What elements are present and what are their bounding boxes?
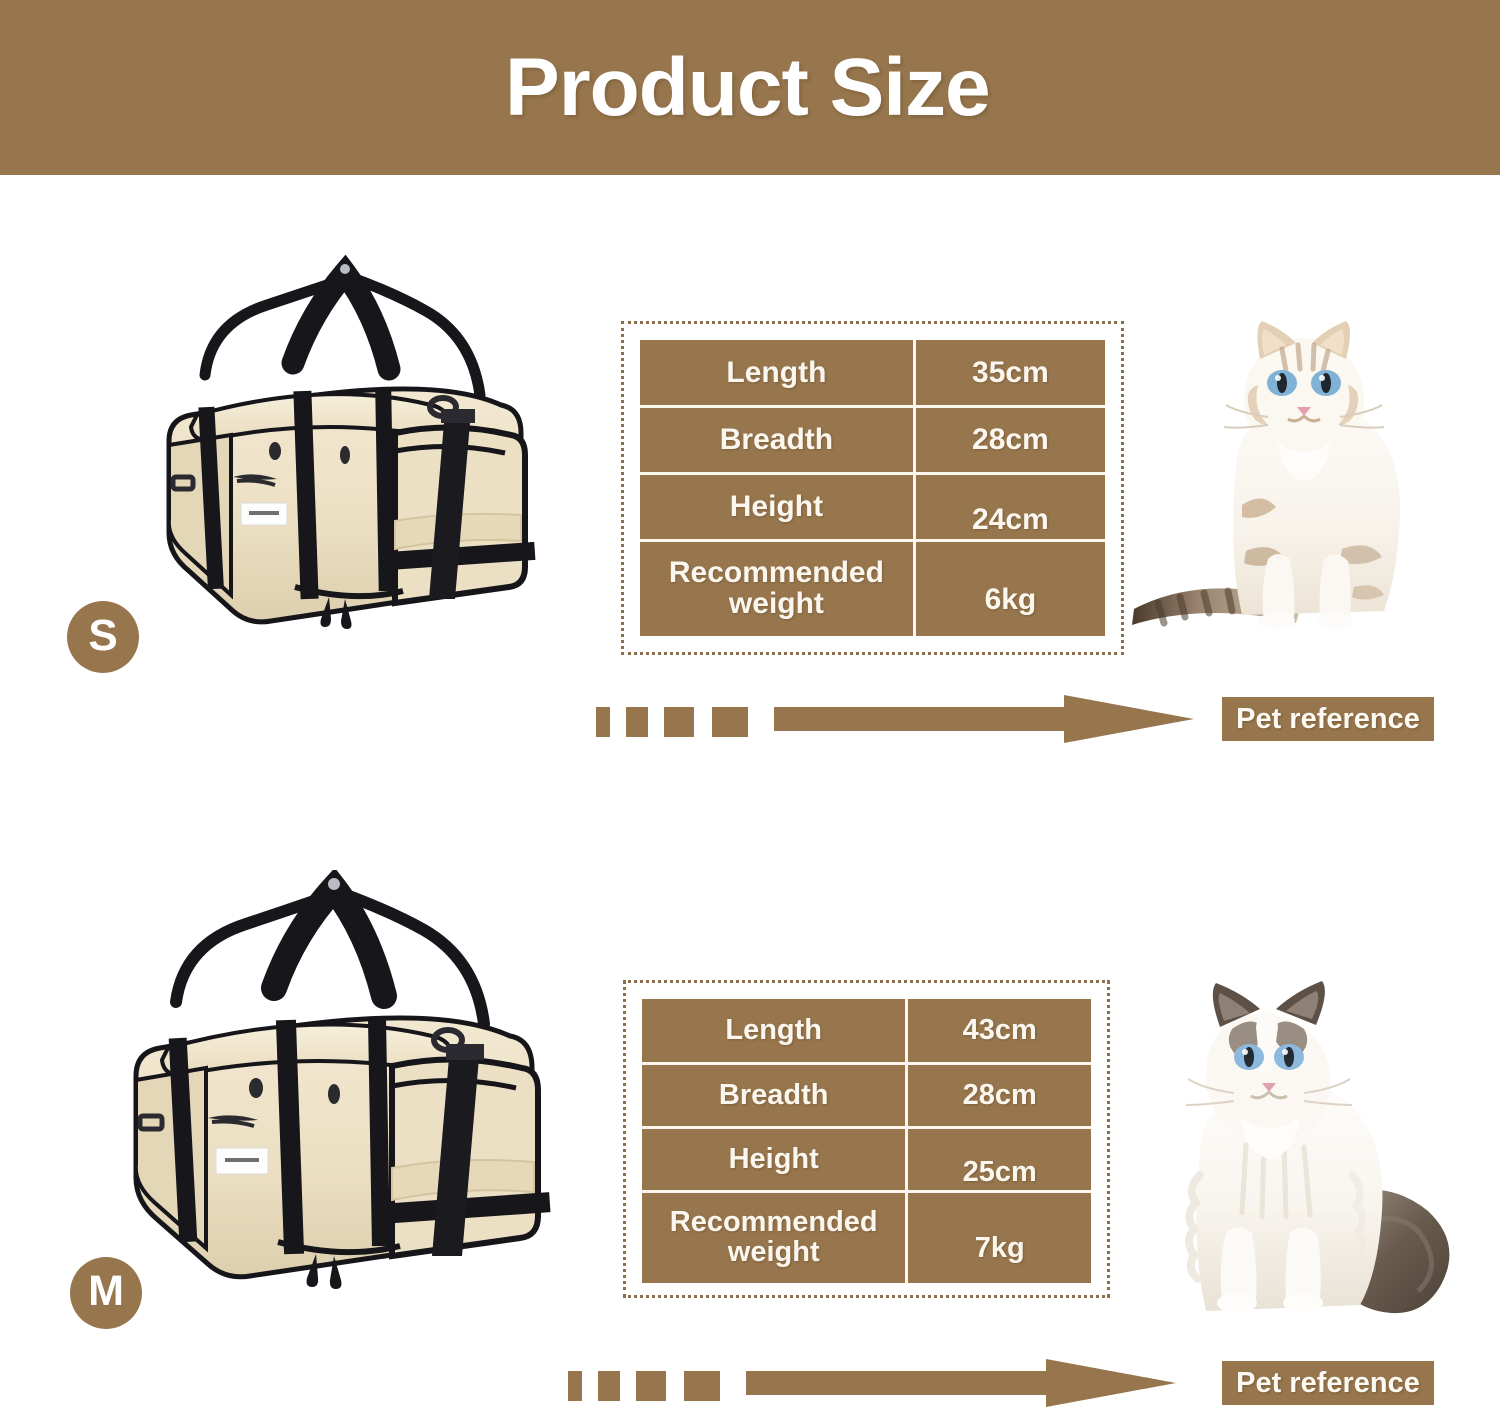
bag-illustration-small bbox=[145, 255, 545, 655]
arrow-dash-1 bbox=[568, 1371, 582, 1401]
spec-key-line1: Recommended bbox=[670, 1206, 878, 1238]
size-section-medium: M bbox=[0, 835, 1500, 1416]
pet-reference-label-small: Pet reference bbox=[1222, 697, 1434, 741]
spec-key-line2: weight bbox=[729, 587, 824, 620]
size-badge-s: S bbox=[67, 601, 139, 673]
arrow-dash-1 bbox=[596, 707, 610, 737]
arrow-dash-4 bbox=[684, 1371, 720, 1401]
arrow-dash-2 bbox=[626, 707, 648, 737]
size-section-small: S bbox=[0, 175, 1500, 815]
spec-key-length: Length bbox=[640, 340, 914, 407]
page-title: Product Size bbox=[505, 47, 990, 129]
ragdoll-cat-image bbox=[1148, 975, 1478, 1320]
spec-key-recommended-weight: Recommended weight bbox=[640, 540, 914, 636]
spec-table-medium: Length 43cm Breadth 28cm Height 25cm Rec… bbox=[642, 999, 1091, 1283]
spec-key-height: Height bbox=[640, 473, 914, 540]
spec-key-recommended-weight: Recommended weight bbox=[642, 1191, 907, 1283]
arrow-shaft-head-icon bbox=[746, 1359, 1176, 1407]
cat-illustration-tabby bbox=[1118, 315, 1480, 645]
pet-reference-label-medium: Pet reference bbox=[1222, 1361, 1434, 1405]
table-row: Height 25cm bbox=[642, 1127, 1091, 1191]
spec-value-recommended-weight: 7kg bbox=[907, 1191, 1091, 1283]
pet-reference-arrow-medium: Pet reference bbox=[568, 1359, 1438, 1407]
arrow-shaft-head-icon bbox=[774, 695, 1194, 743]
table-row: Breadth 28cm bbox=[642, 1063, 1091, 1127]
pet-carrier-bag-medium-image bbox=[110, 870, 565, 1300]
pet-carrier-bag-small-image bbox=[145, 255, 545, 655]
spec-value-breadth: 28cm bbox=[907, 1063, 1091, 1127]
spec-key-line2: weight bbox=[728, 1236, 820, 1268]
cat-illustration-ragdoll bbox=[1148, 975, 1478, 1320]
table-row: Length 43cm bbox=[642, 999, 1091, 1063]
arrow-dash-4 bbox=[712, 707, 748, 737]
spec-value-length: 35cm bbox=[914, 340, 1105, 407]
spec-key-breadth: Breadth bbox=[640, 407, 914, 474]
spec-value-recommended-weight: 6kg bbox=[914, 540, 1105, 636]
spec-value-height: 24cm bbox=[914, 473, 1105, 540]
table-row: Recommended weight 7kg bbox=[642, 1191, 1091, 1283]
spec-value-length: 43cm bbox=[907, 999, 1091, 1063]
spec-key-height: Height bbox=[642, 1127, 907, 1191]
table-row: Length 35cm bbox=[640, 340, 1105, 407]
arrow-dash-3 bbox=[636, 1371, 666, 1401]
spec-key-breadth: Breadth bbox=[642, 1063, 907, 1127]
spec-value-breadth: 28cm bbox=[914, 407, 1105, 474]
spec-key-line1: Recommended bbox=[669, 556, 884, 589]
spec-value-height: 25cm bbox=[907, 1127, 1091, 1191]
arrow-dash-2 bbox=[598, 1371, 620, 1401]
spec-table-small: Length 35cm Breadth 28cm Height 24cm Rec… bbox=[640, 340, 1105, 636]
spec-key-length: Length bbox=[642, 999, 907, 1063]
page-header-banner: Product Size bbox=[0, 0, 1500, 175]
arrow-dash-3 bbox=[664, 707, 694, 737]
table-row: Breadth 28cm bbox=[640, 407, 1105, 474]
bag-illustration-medium bbox=[110, 870, 565, 1300]
table-row: Height 24cm bbox=[640, 473, 1105, 540]
spec-table-card-medium: Length 43cm Breadth 28cm Height 25cm Rec… bbox=[623, 980, 1110, 1298]
pet-reference-arrow-small: Pet reference bbox=[596, 695, 1446, 743]
tabby-cat-image bbox=[1118, 315, 1480, 645]
table-row: Recommended weight 6kg bbox=[640, 540, 1105, 636]
spec-table-card-small: Length 35cm Breadth 28cm Height 24cm Rec… bbox=[621, 321, 1124, 655]
